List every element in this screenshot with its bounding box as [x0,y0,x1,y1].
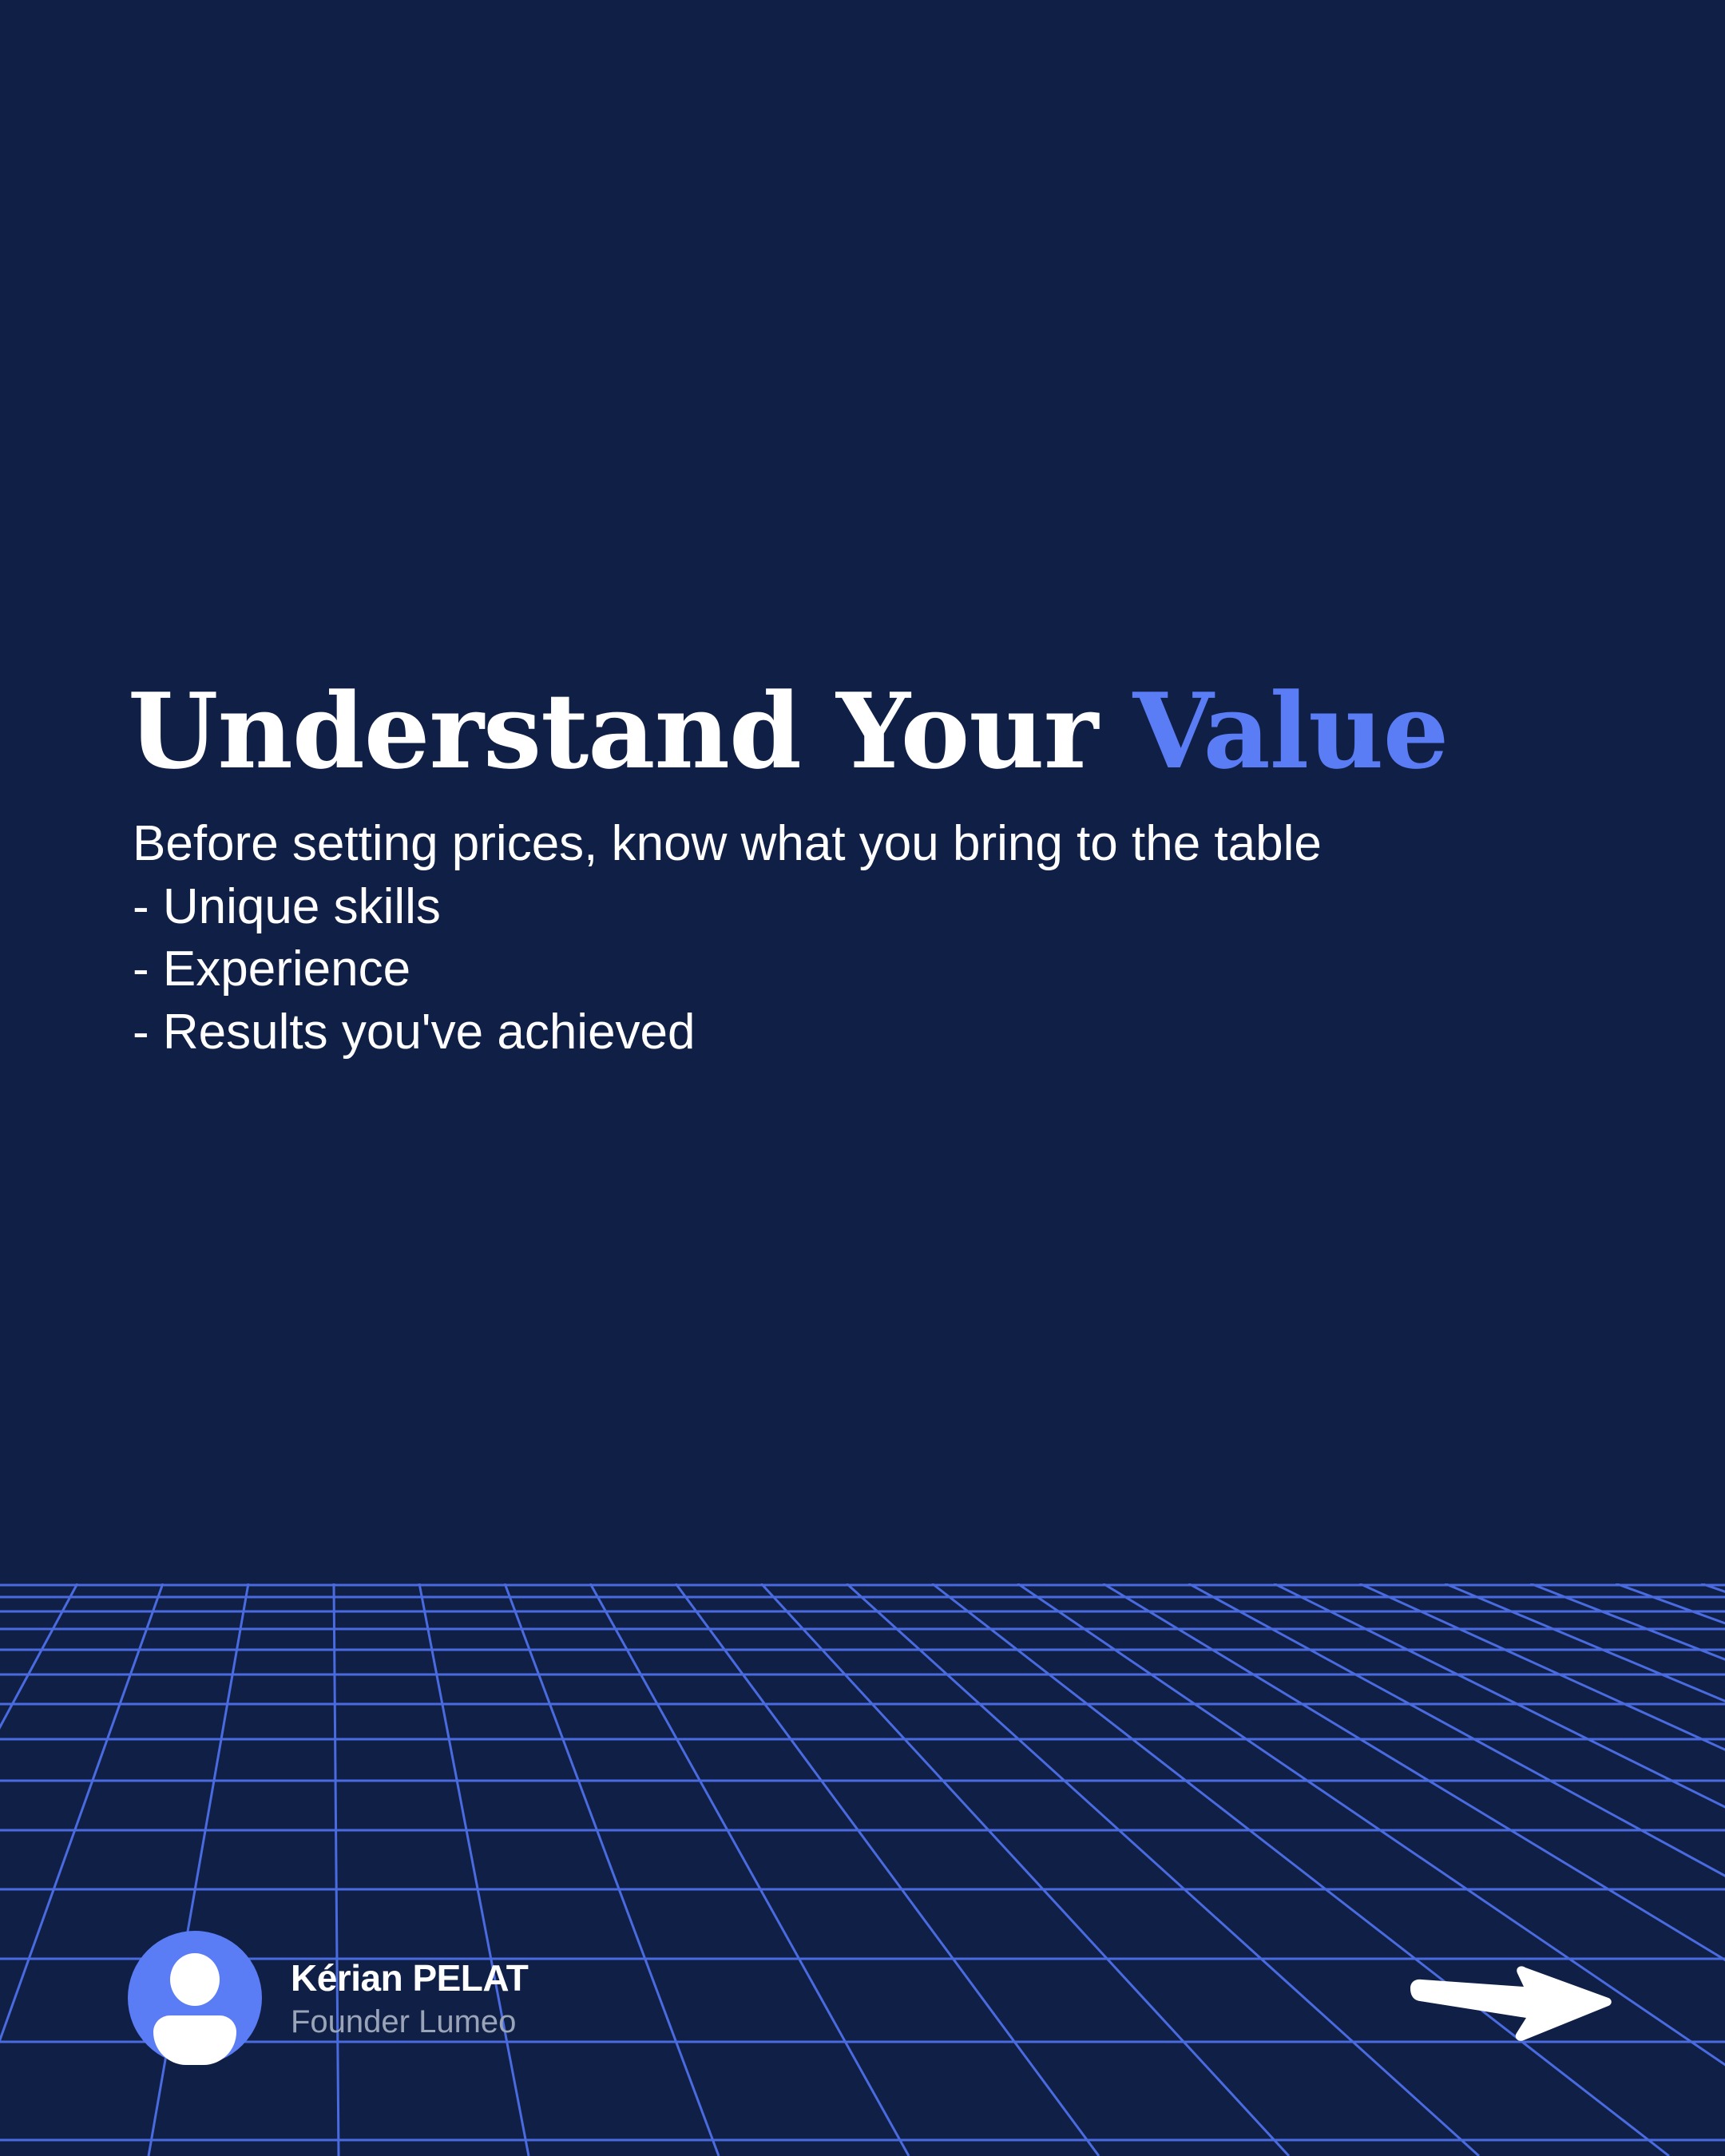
author-details: Kérian PELAT Founder Lumeo [291,1956,528,2040]
author-footer: Kérian PELAT Founder Lumeo [128,1931,528,2065]
page-title-primary: Understand Your [128,670,1133,792]
body-lead-text: Before setting prices, know what you bri… [133,813,1562,876]
arrow-right-icon[interactable] [1404,1966,1613,2043]
person-icon-head [170,1953,220,2006]
perspective-grid-background [0,1583,1725,2156]
page-title: Understand Your Value [128,670,1448,792]
author-role: Founder Lumeo [291,2004,528,2040]
avatar [128,1931,262,2065]
author-name: Kérian PELAT [291,1956,528,1999]
body-bullet-item: - Unique skills [133,876,1602,939]
body-bullet-item: - Results you've achieved [133,1001,1602,1064]
slide-canvas: Understand Your Value Before setting pri… [0,0,1725,2156]
body-bullet-item: - Experience [133,938,1602,1001]
person-icon-body [153,2015,236,2065]
page-title-accent: Value [1133,670,1449,792]
body-copy: Before setting prices, know what you bri… [133,813,1602,1064]
